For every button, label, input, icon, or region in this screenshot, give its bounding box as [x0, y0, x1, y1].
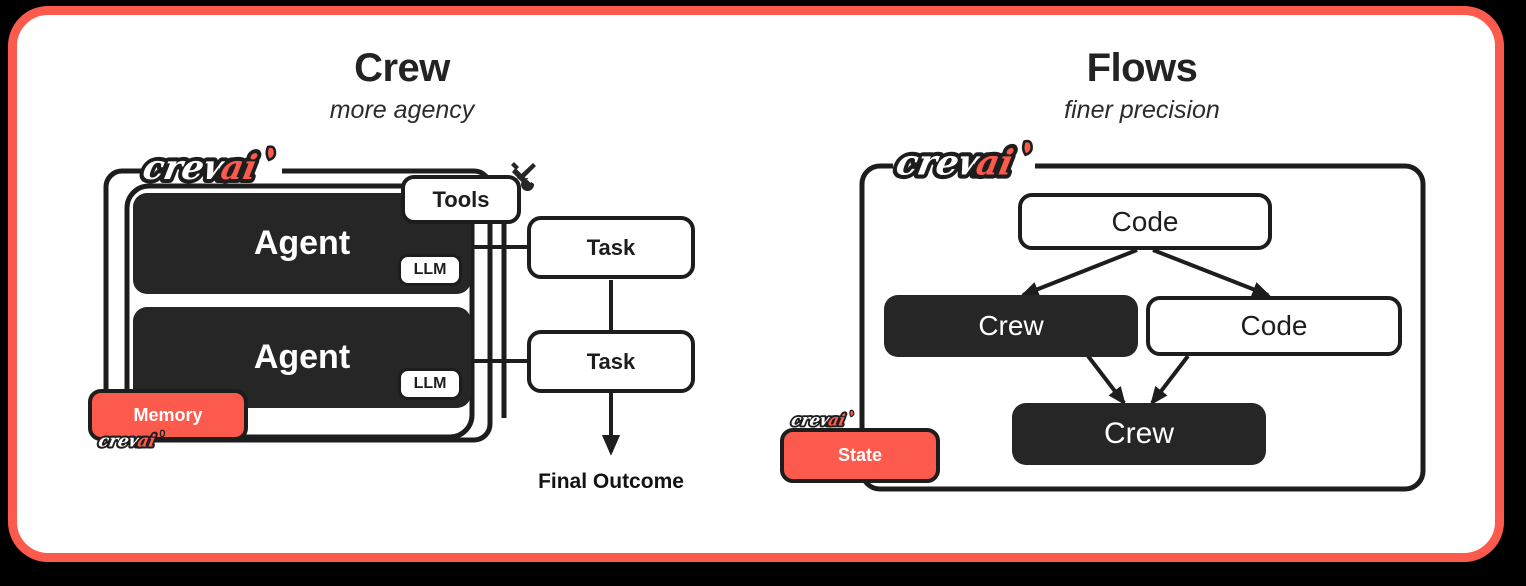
flow-node-crew-middle[interactable]: Crew: [884, 295, 1138, 357]
memory-label: Memory: [133, 405, 202, 426]
llm-badge-1[interactable]: LLM: [398, 254, 462, 286]
flow-node-code-top[interactable]: Code: [1018, 193, 1272, 250]
crew-column-title: Crew: [272, 46, 532, 91]
task-label: Task: [587, 349, 636, 375]
final-outcome-label: Final Outcome: [511, 470, 711, 494]
flow-node-code-middle[interactable]: Code: [1146, 296, 1402, 356]
agent-label: Agent: [254, 338, 350, 377]
task-label: Task: [587, 235, 636, 261]
state-box[interactable]: State: [780, 428, 940, 483]
node-label: Code: [1112, 206, 1179, 238]
diagram-root: Crew more agency Flows finer precision A…: [0, 0, 1526, 586]
task-box-2[interactable]: Task: [527, 330, 695, 393]
state-label: State: [838, 445, 882, 466]
flows-column-title: Flows: [1012, 46, 1272, 91]
crewai-logo: crew crew ai ai: [786, 408, 860, 433]
llm-badge-2[interactable]: LLM: [398, 368, 462, 400]
flows-column-subtitle: finer precision: [1012, 96, 1272, 125]
agent-label: Agent: [254, 224, 350, 263]
flow-node-crew-bottom[interactable]: Crew: [1012, 403, 1266, 465]
llm-label: LLM: [414, 375, 447, 393]
llm-label: LLM: [414, 261, 447, 279]
svg-text:ai: ai: [136, 432, 157, 452]
crewai-logo: crew crew ai ai: [93, 428, 171, 454]
task-box-1[interactable]: Task: [527, 216, 695, 279]
tools-label: Tools: [432, 187, 489, 213]
svg-text:ai: ai: [218, 148, 261, 188]
tools-box[interactable]: Tools: [401, 175, 521, 224]
node-label: Crew: [1104, 417, 1174, 451]
svg-text:ai: ai: [827, 411, 847, 430]
svg-text:ai: ai: [973, 143, 1017, 184]
crewai-logo: crew crew ai ai: [132, 145, 288, 191]
node-label: Crew: [978, 310, 1043, 342]
crew-column-subtitle: more agency: [272, 96, 532, 125]
node-label: Code: [1241, 310, 1308, 342]
crewai-logo: crew crew ai ai: [885, 139, 1045, 187]
